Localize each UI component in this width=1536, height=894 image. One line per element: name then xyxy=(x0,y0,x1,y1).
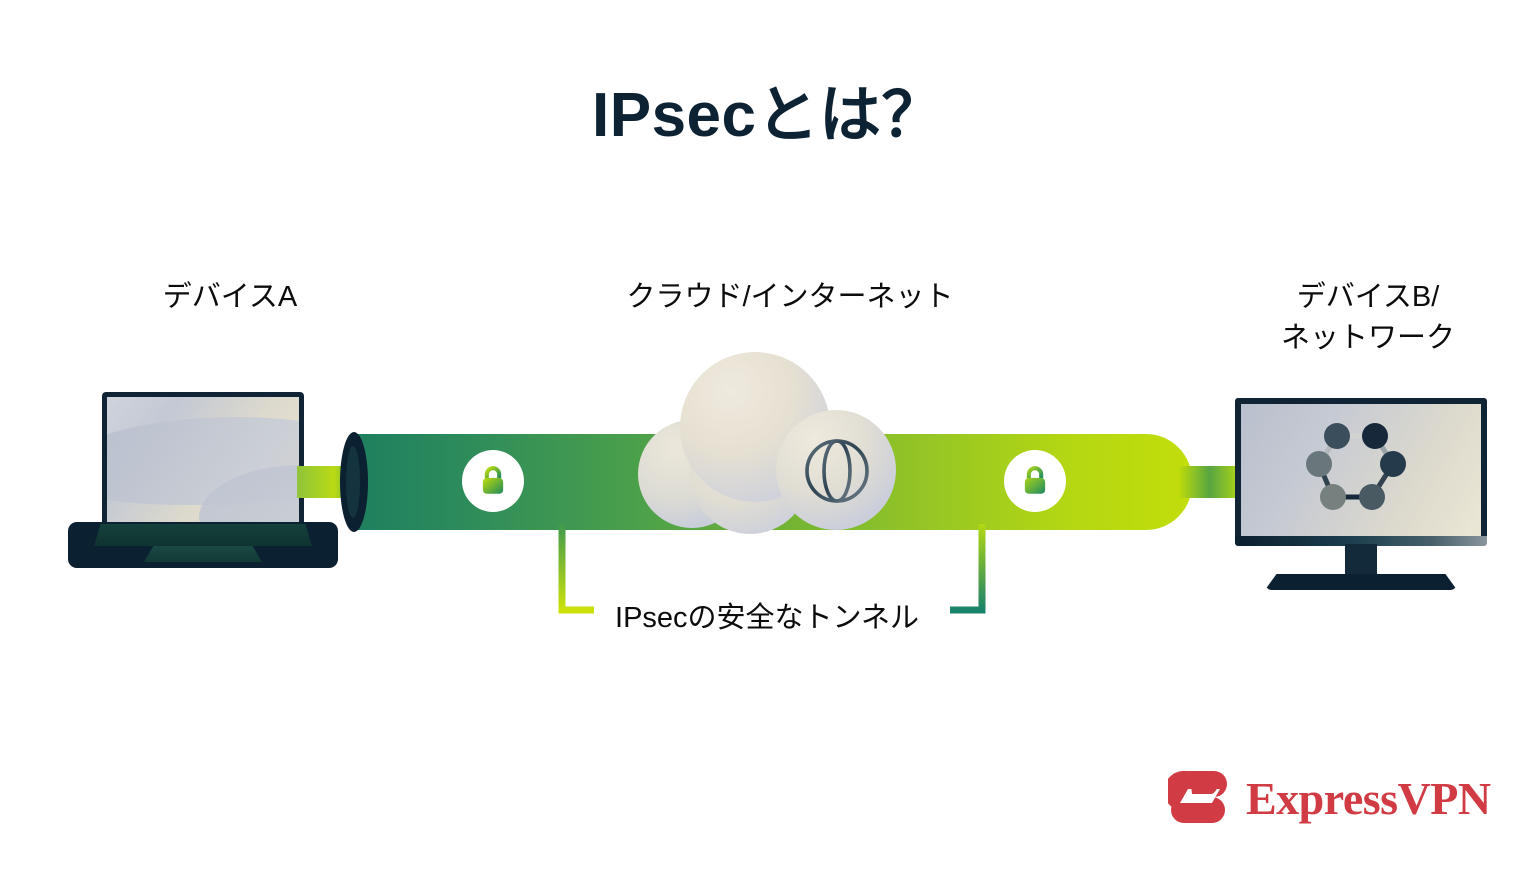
tunnel-mouth xyxy=(340,432,368,532)
expressvpn-logo: ExpressVPN xyxy=(1168,766,1486,832)
label-device-a: デバイスA xyxy=(40,277,420,318)
network-topology-icon xyxy=(1305,422,1413,522)
lock-icon xyxy=(1004,450,1066,512)
tunnel-mouth-inner xyxy=(346,446,360,518)
page-title: IPsecとは？ xyxy=(0,82,1536,150)
cloud-globe-icon xyxy=(628,352,918,542)
globe-icon xyxy=(802,436,872,506)
expressvpn-wordmark: ExpressVPN xyxy=(1246,776,1491,822)
diagram-canvas: IPsecとは？ デバイスA クラウド/インターネット xyxy=(0,0,1536,894)
tunnel-caption: IPsecの安全なトンネル xyxy=(592,594,942,636)
monitor-frame xyxy=(1235,398,1487,542)
label-device-b: デバイスB/ ネットワーク xyxy=(1200,277,1536,359)
expressvpn-mark-icon xyxy=(1168,767,1230,832)
laptop-screen xyxy=(107,397,299,523)
laptop-lid xyxy=(102,392,304,527)
monitor-foot xyxy=(1265,574,1457,590)
laptop-trackpad xyxy=(144,546,262,562)
label-cloud-internet: クラウド/インターネット xyxy=(590,277,990,318)
laptop-keyboard-deck xyxy=(94,524,312,546)
laptop-base xyxy=(68,522,338,568)
lock-icon xyxy=(462,450,524,512)
monitor-screen xyxy=(1241,404,1481,536)
monitor-network-icon xyxy=(1235,398,1487,590)
